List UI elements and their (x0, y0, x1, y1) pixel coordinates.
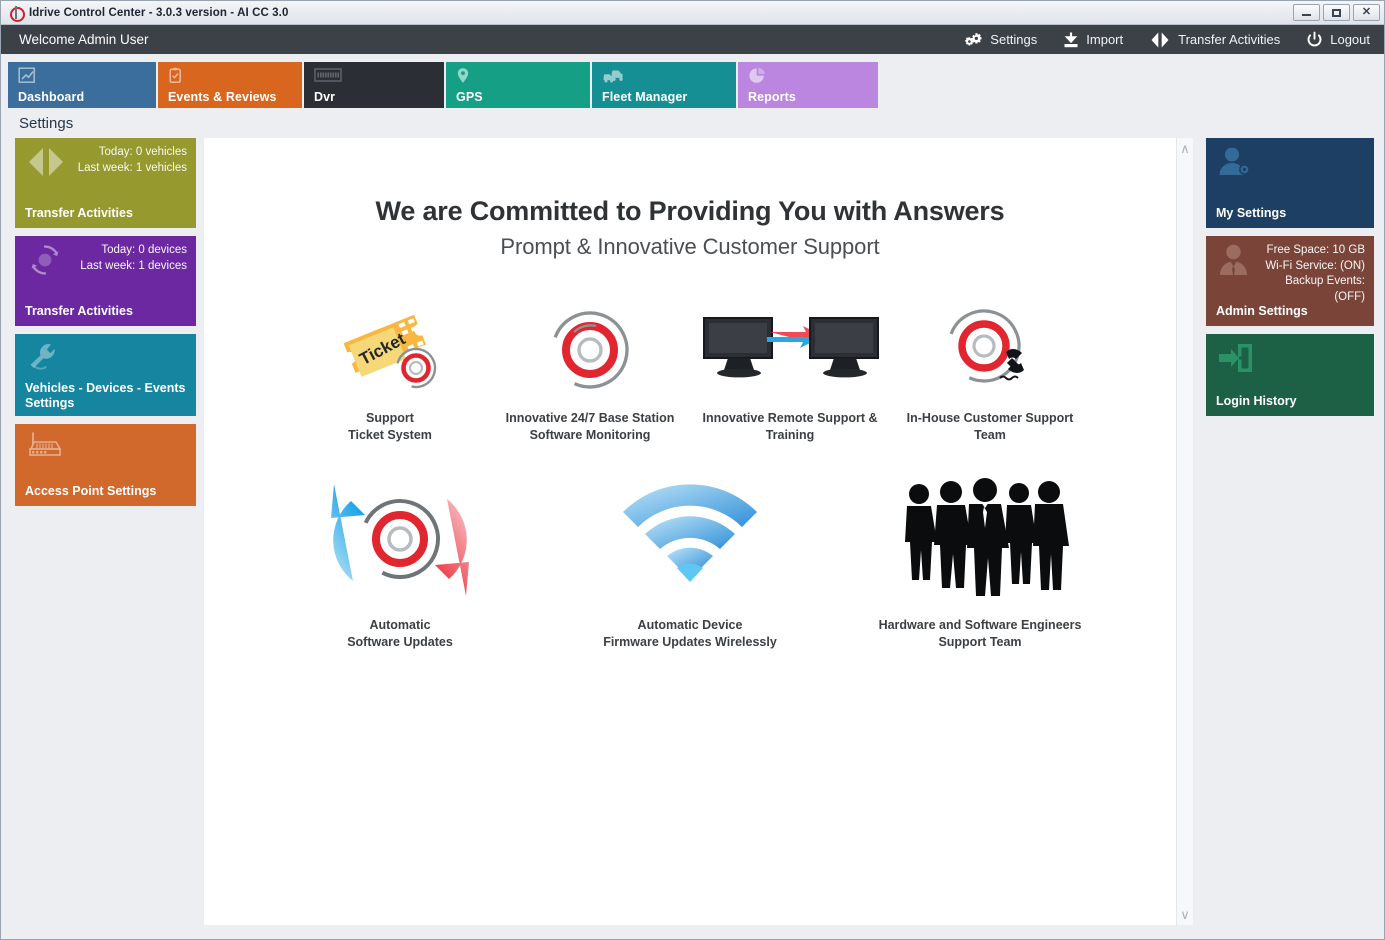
transfer-arrows-icon (25, 145, 71, 179)
sidebar-item-my-settings[interactable]: My Settings (1206, 138, 1374, 228)
sidebar-item-vehicles-devices-events-settings[interactable]: Vehicles - Devices - Events Settings (15, 334, 196, 416)
stat-line: Last week: 1 devices (80, 260, 187, 272)
nav-tile-dashboard-label: Dashboard (18, 90, 148, 104)
nav-tile-reports[interactable]: Reports (738, 62, 878, 108)
pie-chart-icon (748, 67, 870, 85)
maximize-button[interactable] (1323, 4, 1350, 21)
feature-device-firmware-updates: Automatic Device Firmware Updates Wirele… (545, 475, 835, 650)
device-sync-icon (25, 243, 71, 277)
feature-caption: Automatic Device Firmware Updates Wirele… (549, 617, 831, 650)
minimize-button[interactable] (1293, 4, 1320, 21)
menu-transfer-label: Transfer Activities (1178, 32, 1280, 47)
main-nav-tiles: Dashboard Events & Reviews (1, 54, 1384, 108)
stat-line: Wi-Fi Service: (ON) (1265, 260, 1365, 272)
hero-block: We are Committed to Providing You with A… (204, 138, 1176, 260)
gear-icon (963, 31, 983, 49)
window-title: Idrive Control Center - 3.0.3 version - … (29, 7, 288, 19)
nav-tile-fleet-manager[interactable]: Fleet Manager (592, 62, 736, 108)
admin-user-icon (1216, 243, 1262, 281)
feature-caption: Support Ticket System (294, 410, 486, 443)
menu-transfer-activities[interactable]: Transfer Activities (1149, 31, 1280, 49)
title-bar: Idrive Control Center - 3.0.3 version - … (1, 1, 1384, 25)
feature-caption: Automatic Software Updates (259, 617, 541, 650)
content-area: We are Committed to Providing You with A… (196, 138, 1193, 925)
transfer-arrows-icon (1149, 31, 1171, 49)
feature-support-ticket-system: Ticket Support Ticket System (290, 304, 490, 443)
sidebar-item-admin-settings[interactable]: Free Space: 10 GB Wi-Fi Service: (ON) Ba… (1206, 236, 1374, 326)
ring-phone-icon (894, 304, 1086, 396)
close-button[interactable]: ✕ (1353, 4, 1380, 21)
sidebar-item-label: Login History (1216, 384, 1365, 409)
target-ring-icon (494, 304, 686, 396)
nav-tile-reports-label: Reports (748, 90, 870, 104)
features-grid: Ticket Support Ticket System (204, 304, 1176, 650)
feature-in-house-support-team: In-House Customer Support Team (890, 304, 1090, 443)
left-sidebar: Today: 0 vehicles Last week: 1 vehicles … (15, 138, 196, 925)
right-sidebar: My Settings Free Space: 10 GB Wi (1193, 138, 1374, 925)
clipboard-check-icon (168, 67, 294, 85)
dvr-device-icon (314, 67, 436, 85)
nav-tile-gps-label: GPS (456, 90, 582, 104)
nav-tile-events-reviews[interactable]: Events & Reviews (158, 62, 302, 108)
app-logo-icon (9, 6, 23, 20)
nav-tile-fleet-label: Fleet Manager (602, 90, 728, 104)
page-title: We are Committed to Providing You with A… (204, 196, 1176, 227)
feature-caption: Hardware and Software Engineers Support … (839, 617, 1121, 650)
close-icon: ✕ (1362, 7, 1371, 18)
features-row-1: Ticket Support Ticket System (204, 304, 1176, 443)
feature-engineers-support-team: Hardware and Software Engineers Support … (835, 475, 1125, 650)
menu-actions: Settings Import Transf (963, 31, 1370, 49)
download-icon (1063, 31, 1079, 49)
nav-tile-gps[interactable]: GPS (446, 62, 590, 108)
sidebar-item-label: Transfer Activities (25, 294, 187, 319)
refresh-ring-icon (259, 475, 541, 603)
features-row-2: Automatic Software Updates (204, 475, 1176, 650)
sidebar-stats: Today: 0 vehicles Last week: 1 vehicles (78, 145, 187, 176)
sidebar-item-label: Access Point Settings (25, 474, 187, 499)
user-gear-icon (1216, 145, 1262, 181)
nav-tile-dvr-label: Dvr (314, 90, 436, 104)
sidebar-item-label: Vehicles - Devices - Events Settings (25, 371, 187, 411)
wrench-icon (25, 341, 71, 371)
nav-tile-events-label: Events & Reviews (168, 90, 294, 104)
feature-remote-support-training: Innovative Remote Support & Training (690, 304, 890, 443)
feature-automatic-software-updates: Automatic Software Updates (255, 475, 545, 650)
feature-caption: Innovative 24/7 Base Station Software Mo… (494, 410, 686, 443)
vehicles-icon (602, 67, 728, 85)
stat-line: Today: 0 devices (101, 244, 187, 256)
map-pin-icon (456, 67, 582, 85)
router-icon (25, 431, 71, 465)
welcome-text: Welcome Admin User (19, 32, 149, 47)
menu-settings[interactable]: Settings (963, 31, 1037, 49)
sidebar-item-label: My Settings (1216, 196, 1365, 221)
scroll-down-icon[interactable]: ∨ (1180, 908, 1190, 921)
stat-line: Free Space: 10 GB (1267, 244, 1365, 256)
menu-logout-label: Logout (1330, 32, 1370, 47)
chart-growth-icon (18, 67, 148, 85)
menu-settings-label: Settings (990, 32, 1037, 47)
window-controls: ✕ (1293, 4, 1380, 21)
support-info-panel: We are Committed to Providing You with A… (204, 138, 1176, 925)
menu-import-label: Import (1086, 32, 1123, 47)
stat-line: Today: 0 vehicles (99, 146, 187, 158)
menu-logout[interactable]: Logout (1306, 31, 1370, 49)
sidebar-item-transfer-activities-devices[interactable]: Today: 0 devices Last week: 1 devices Tr… (15, 236, 196, 326)
scroll-up-icon[interactable]: ∧ (1180, 142, 1190, 155)
sidebar-stats: Today: 0 devices Last week: 1 devices (80, 243, 187, 274)
login-door-icon (1216, 341, 1262, 375)
app-window: Idrive Control Center - 3.0.3 version - … (0, 0, 1385, 940)
sidebar-item-login-history[interactable]: Login History (1206, 334, 1374, 416)
team-silhouette-icon (839, 475, 1121, 603)
support-ticket-icon: Ticket (294, 304, 486, 396)
sidebar-item-access-point-settings[interactable]: Access Point Settings (15, 424, 196, 506)
page-subtitle: Prompt & Innovative Customer Support (204, 234, 1176, 260)
menu-import[interactable]: Import (1063, 31, 1123, 49)
remote-monitors-icon (694, 304, 886, 396)
body-area: Today: 0 vehicles Last week: 1 vehicles … (1, 138, 1384, 939)
breadcrumb: Settings (19, 115, 73, 132)
wifi-icon (549, 475, 831, 603)
power-icon (1306, 31, 1323, 49)
sidebar-item-label: Admin Settings (1216, 294, 1365, 319)
feature-caption: Innovative Remote Support & Training (694, 410, 886, 443)
top-menu-bar: Welcome Admin User (1, 25, 1384, 54)
breadcrumb-bar: Settings (1, 108, 1384, 138)
nav-tile-dvr[interactable]: Dvr (304, 62, 444, 108)
content-scrollbar[interactable]: ∧ ∨ (1176, 138, 1193, 925)
sidebar-item-transfer-activities-vehicles[interactable]: Today: 0 vehicles Last week: 1 vehicles … (15, 138, 196, 228)
sidebar-item-label: Transfer Activities (25, 196, 187, 221)
feature-caption: In-House Customer Support Team (894, 410, 1086, 443)
nav-tile-dashboard[interactable]: Dashboard (8, 62, 156, 108)
feature-base-station-monitoring: Innovative 24/7 Base Station Software Mo… (490, 304, 690, 443)
stat-line: Last week: 1 vehicles (78, 162, 187, 174)
